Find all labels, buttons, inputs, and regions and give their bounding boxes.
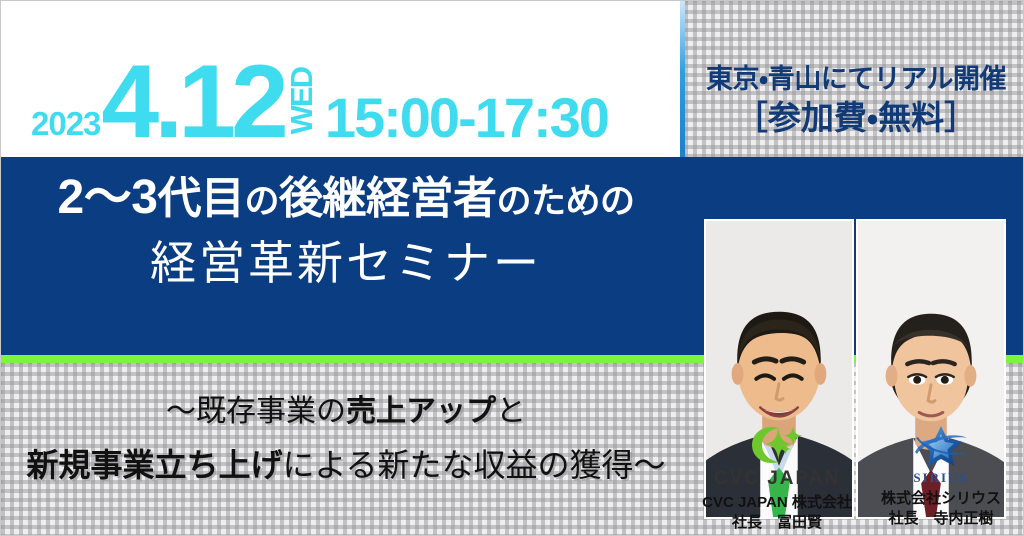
date-time-range: 15:00-17:30 (325, 90, 608, 146)
seminar-banner: 2023 4.12 WED 15:00-17:30 東京・青山にてリアル開催 ［… (0, 0, 1024, 536)
speaker-2-person: 社長 寺内正樹 (859, 509, 1023, 529)
subtitle-block: 〜既存事業の売上アップと 新規事業立ち上げによる新たな収益の獲得〜 (1, 393, 691, 485)
subtitle-line1-highlight: 売上アップ (346, 395, 496, 428)
date-line: 2023 4.12 WED 15:00-17:30 (31, 58, 608, 147)
date-day-of-week: WED (286, 68, 317, 134)
date-year: 2023 (31, 107, 100, 140)
title-line-1: 2〜3代目の後継経営者のための (1, 171, 691, 226)
title-line-2: 経営革新セミナー (1, 236, 691, 291)
subtitle-line1-tail: と (496, 395, 526, 428)
sirius-logo-icon (859, 419, 1023, 471)
subtitle-line-2: 新規事業立ち上げによる新たな収益の獲得〜 (1, 445, 691, 485)
venue-block: 東京・青山にてリアル開催 ［参加費・無料］ (687, 63, 1024, 138)
title-generation-number: 2〜3 (58, 171, 158, 224)
sirius-wordmark: SIRIUS (859, 471, 1023, 484)
speaker-2-credit: SIRIUS 株式会社シリウス 社長 寺内正樹 (859, 419, 1023, 530)
date-row: 2023 4.12 WED 15:00-17:30 (1, 49, 684, 153)
speaker-1-credit: CVC JAPAN CVC JAPAN 株式会社 社長 冨田賢 (693, 419, 861, 534)
subtitle-line1-lead: 〜既存事業の (166, 395, 346, 428)
subtitle-line-1: 〜既存事業の売上アップと (1, 393, 691, 431)
subtitle-line2-highlight: 新規事業立ち上げ (26, 447, 282, 483)
speaker-1-company: CVC JAPAN 株式会社 (693, 493, 861, 513)
title-successor-kanji: 後継経営者 (279, 174, 497, 223)
speaker-2-company: 株式会社シリウス (859, 489, 1023, 509)
date-month-day: 4.12 (101, 58, 283, 147)
speaker-1-person: 社長 冨田賢 (693, 513, 861, 533)
title-line1-tail: のための (496, 182, 634, 221)
title-block: 2〜3代目の後継経営者のための 経営革新セミナー (1, 171, 691, 291)
title-generation-label: 代目 (157, 174, 244, 223)
venue-fee-badge: ［参加費・無料］ (687, 98, 1024, 138)
subtitle-line2-tail: による新たな収益の獲得〜 (282, 447, 665, 483)
title-particle-no: の (244, 182, 279, 221)
venue-location-text: 東京・青山にてリアル開催 (687, 63, 1024, 96)
cvc-japan-logo-icon (693, 419, 861, 471)
cvc-japan-wordmark: CVC JAPAN (693, 469, 861, 488)
